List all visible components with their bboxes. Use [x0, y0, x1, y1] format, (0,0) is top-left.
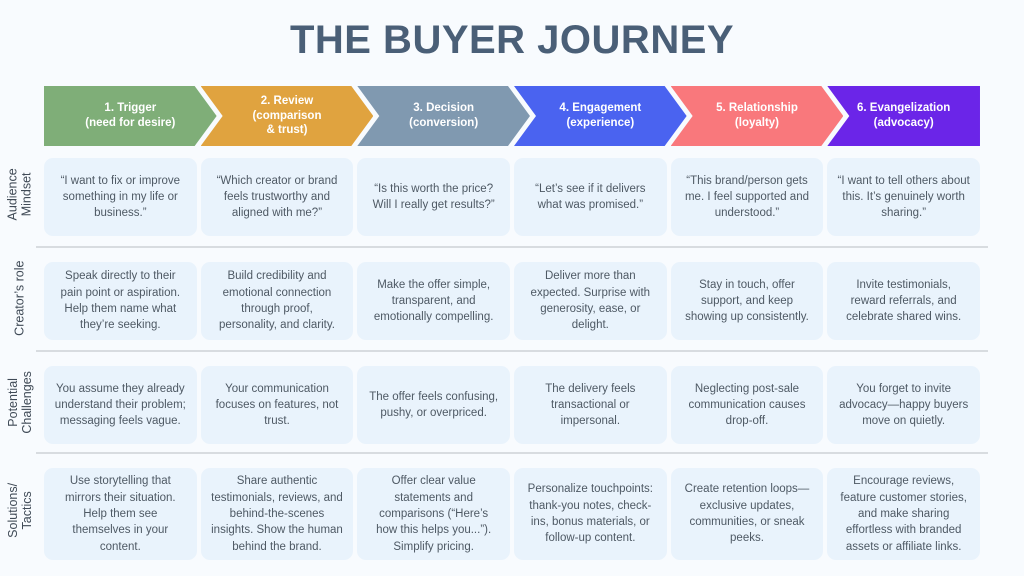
- journey-cell-text: Invite testimonials, reward referrals, a…: [837, 277, 970, 326]
- journey-cell-text: Neglecting post-sale communication cause…: [681, 381, 814, 430]
- journey-cell-text: Deliver more than expected. Surprise wit…: [524, 268, 657, 333]
- journey-cell-text: “This brand/person gets me. I feel suppo…: [681, 173, 814, 222]
- stage-label-line: (advocacy): [857, 116, 950, 131]
- journey-cell[interactable]: “Let’s see if it delivers what was promi…: [514, 158, 667, 236]
- row-label-line: Mindset: [20, 168, 34, 220]
- journey-cell-text: The delivery feels transactional or impe…: [524, 381, 657, 430]
- buyer-journey-infographic: THE BUYER JOURNEY 1. Trigger(need for de…: [0, 0, 1024, 576]
- row-cards: “I want to fix or improve something in m…: [44, 150, 980, 238]
- row-label-text: Solutions/Tactics: [6, 483, 35, 538]
- row-cards: You assume they already understand their…: [44, 358, 980, 446]
- stage-chevron-3[interactable]: 3. Decision(conversion): [357, 86, 530, 146]
- journey-cell[interactable]: Speak directly to their pain point or as…: [44, 262, 197, 340]
- row-label-line: Audience: [6, 168, 20, 220]
- stage-label-5: 5. Relationship(loyalty): [716, 101, 798, 130]
- journey-cell[interactable]: Personalize touchpoints: thank-you notes…: [514, 468, 667, 560]
- journey-cell-text: You forget to invite advocacy—happy buye…: [837, 381, 970, 430]
- row-label-line: Creator’s role: [13, 260, 27, 335]
- journey-row-4: Solutions/TacticsUse storytelling that m…: [0, 460, 1024, 560]
- journey-cell-text: “Which creator or brand feels trustworth…: [211, 173, 344, 222]
- journey-cell[interactable]: “Which creator or brand feels trustworth…: [201, 158, 354, 236]
- journey-cell[interactable]: You forget to invite advocacy—happy buye…: [827, 366, 980, 444]
- journey-cell[interactable]: Offer clear value statements and compari…: [357, 468, 510, 560]
- stage-label-line: 5. Relationship: [716, 101, 798, 116]
- row-label-4: Solutions/Tactics: [0, 460, 40, 560]
- journey-cell[interactable]: Deliver more than expected. Surprise wit…: [514, 262, 667, 340]
- journey-cell[interactable]: The delivery feels transactional or impe…: [514, 366, 667, 444]
- stage-chevron-6[interactable]: 6. Evangelization(advocacy): [827, 86, 980, 146]
- journey-cell-text: Make the offer simple, transparent, and …: [367, 277, 500, 326]
- row-divider: [36, 350, 988, 352]
- journey-cell-text: Your communication focuses on features, …: [211, 381, 344, 430]
- stage-label-line: 1. Trigger: [85, 101, 175, 116]
- row-label-3: PotentialChallenges: [0, 358, 40, 446]
- journey-cell-text: Share authentic testimonials, reviews, a…: [211, 473, 344, 555]
- row-cards: Use storytelling that mirrors their situ…: [44, 460, 980, 560]
- journey-row-1: AudienceMindset“I want to fix or improve…: [0, 150, 1024, 238]
- journey-cell-text: Encourage reviews, feature customer stor…: [837, 473, 970, 555]
- journey-cell-text: Build credibility and emotional connecti…: [211, 268, 344, 333]
- journey-cell[interactable]: Encourage reviews, feature customer stor…: [827, 468, 980, 560]
- stage-chevron-4[interactable]: 4. Engagement(experience): [514, 86, 687, 146]
- stage-chevron-1[interactable]: 1. Trigger(need for desire): [44, 86, 217, 146]
- stage-chevron-strip: 1. Trigger(need for desire)2. Review(com…: [44, 86, 980, 146]
- stage-label-line: & trust): [252, 123, 321, 138]
- journey-cell[interactable]: “I want to tell others about this. It’s …: [827, 158, 980, 236]
- stage-label-line: 6. Evangelization: [857, 101, 950, 116]
- journey-cell[interactable]: Invite testimonials, reward referrals, a…: [827, 262, 980, 340]
- stage-label-line: 4. Engagement: [559, 101, 641, 116]
- journey-cell-text: “I want to fix or improve something in m…: [54, 173, 187, 222]
- stage-label-line: (experience): [559, 116, 641, 131]
- stage-label-6: 6. Evangelization(advocacy): [857, 101, 950, 130]
- stage-chevron-2[interactable]: 2. Review(comparison& trust): [201, 86, 374, 146]
- journey-cell[interactable]: Build credibility and emotional connecti…: [201, 262, 354, 340]
- stage-label-4: 4. Engagement(experience): [559, 101, 641, 130]
- row-label-line: Solutions/: [6, 483, 20, 538]
- journey-cell[interactable]: “I want to fix or improve something in m…: [44, 158, 197, 236]
- stage-label-line: 2. Review: [252, 94, 321, 109]
- journey-cell[interactable]: Use storytelling that mirrors their situ…: [44, 468, 197, 560]
- journey-cell-text: “Let’s see if it delivers what was promi…: [524, 181, 657, 214]
- stage-label-2: 2. Review(comparison& trust): [252, 94, 321, 138]
- journey-cell[interactable]: You assume they already understand their…: [44, 366, 197, 444]
- page-title: THE BUYER JOURNEY: [0, 18, 1024, 63]
- stage-label-line: (conversion): [409, 116, 478, 131]
- stage-label-3: 3. Decision(conversion): [409, 101, 478, 130]
- row-label-1: AudienceMindset: [0, 150, 40, 238]
- journey-cell[interactable]: “Is this worth the price? Will I really …: [357, 158, 510, 236]
- row-divider: [36, 246, 988, 248]
- journey-cell[interactable]: Stay in touch, offer support, and keep s…: [671, 262, 824, 340]
- journey-cell[interactable]: Make the offer simple, transparent, and …: [357, 262, 510, 340]
- journey-cell-text: “Is this worth the price? Will I really …: [367, 181, 500, 214]
- row-label-2: Creator’s role: [0, 254, 40, 342]
- journey-cell-text: “I want to tell others about this. It’s …: [837, 173, 970, 222]
- journey-cell-text: Stay in touch, offer support, and keep s…: [681, 277, 814, 326]
- row-label-line: Challenges: [20, 371, 34, 434]
- stage-label-line: (comparison: [252, 109, 321, 124]
- row-cards: Speak directly to their pain point or as…: [44, 254, 980, 342]
- journey-cell[interactable]: Share authentic testimonials, reviews, a…: [201, 468, 354, 560]
- journey-cell[interactable]: The offer feels confusing, pushy, or ove…: [357, 366, 510, 444]
- journey-cell[interactable]: Neglecting post-sale communication cause…: [671, 366, 824, 444]
- row-divider: [36, 452, 988, 454]
- row-label-text: AudienceMindset: [6, 168, 35, 220]
- journey-cell-text: Offer clear value statements and compari…: [367, 473, 500, 555]
- journey-cell-text: The offer feels confusing, pushy, or ove…: [367, 389, 500, 422]
- journey-cell-text: You assume they already understand their…: [54, 381, 187, 430]
- stage-label-line: (loyalty): [716, 116, 798, 131]
- journey-cell[interactable]: Create retention loops—exclusive updates…: [671, 468, 824, 560]
- row-label-text: Creator’s role: [13, 260, 27, 335]
- journey-row-2: Creator’s roleSpeak directly to their pa…: [0, 254, 1024, 342]
- journey-cell-text: Speak directly to their pain point or as…: [54, 268, 187, 333]
- journey-cell-text: Use storytelling that mirrors their situ…: [54, 473, 187, 555]
- stage-label-line: 3. Decision: [409, 101, 478, 116]
- journey-cell[interactable]: “This brand/person gets me. I feel suppo…: [671, 158, 824, 236]
- stage-chevron-5[interactable]: 5. Relationship(loyalty): [671, 86, 844, 146]
- journey-cell[interactable]: Your communication focuses on features, …: [201, 366, 354, 444]
- journey-cell-text: Create retention loops—exclusive updates…: [681, 481, 814, 546]
- stage-label-1: 1. Trigger(need for desire): [85, 101, 175, 130]
- row-label-text: PotentialChallenges: [6, 371, 35, 434]
- row-label-line: Tactics: [20, 483, 34, 538]
- journey-row-3: PotentialChallengesYou assume they alrea…: [0, 358, 1024, 446]
- row-label-line: Potential: [6, 371, 20, 434]
- journey-cell-text: Personalize touchpoints: thank-you notes…: [524, 481, 657, 546]
- journey-grid: AudienceMindset“I want to fix or improve…: [0, 150, 1024, 576]
- stage-label-line: (need for desire): [85, 116, 175, 131]
